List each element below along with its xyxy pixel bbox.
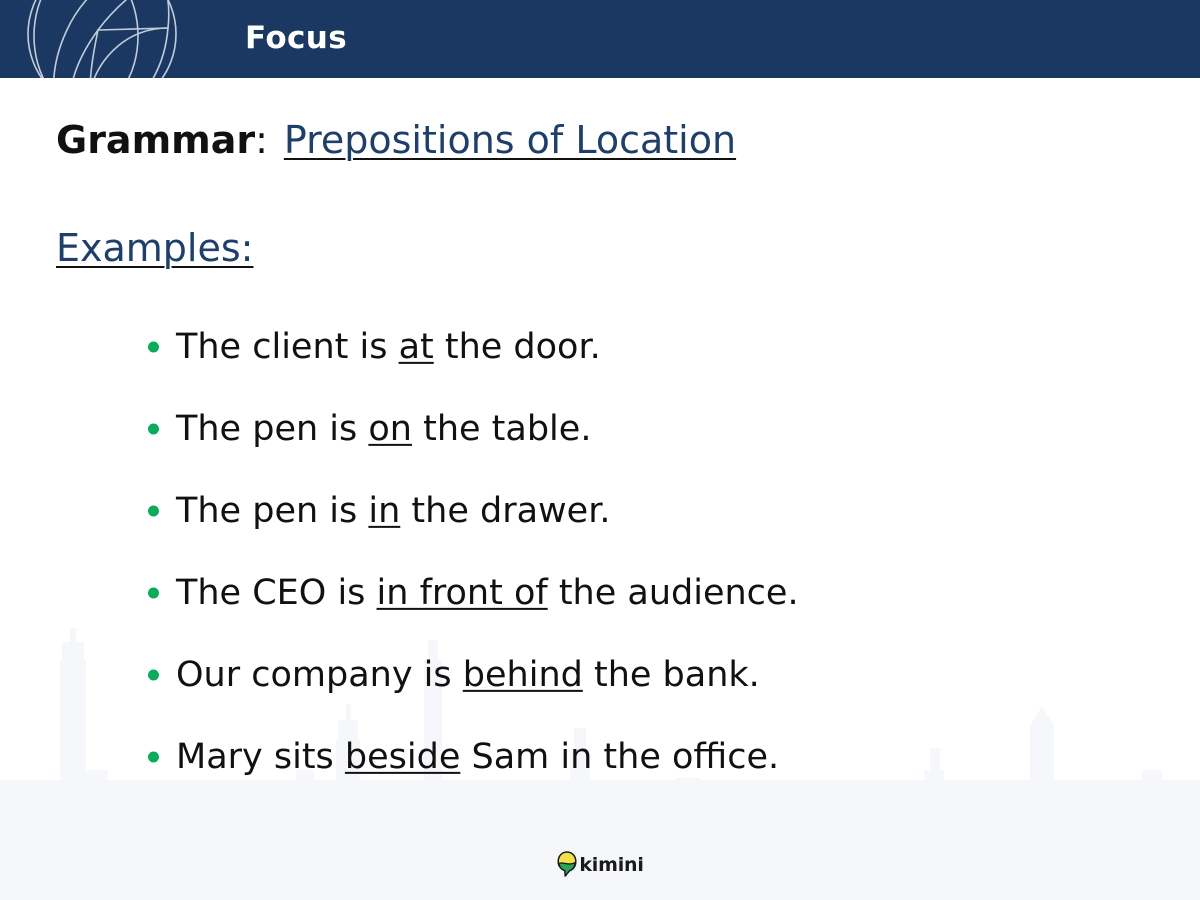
bullet-text: The pen is on the table.	[176, 409, 591, 449]
bullet-text-before: The pen is	[176, 409, 368, 449]
bullet-text-after: the audience.	[548, 573, 799, 613]
header-title: Focus	[245, 0, 347, 78]
bullet-text-before: Mary sits	[176, 737, 345, 777]
bullet-dot-icon	[148, 670, 159, 681]
grammar-label: Grammar	[56, 118, 255, 162]
bullet-text: The pen is in the drawer.	[176, 491, 611, 531]
list-item: The pen is on the table.	[0, 388, 1200, 470]
preposition-highlight: beside	[345, 737, 460, 777]
kimini-egg-logo-icon	[556, 851, 578, 877]
bullet-dot-icon	[148, 342, 159, 353]
examples-bullet-list: The client is at the door. The pen is on…	[0, 306, 1200, 798]
list-item: The client is at the door.	[0, 306, 1200, 388]
preposition-highlight: in	[368, 491, 400, 531]
bullet-text-before: The client is	[176, 327, 399, 367]
bullet-text: The CEO is in front of the audience.	[176, 573, 799, 613]
bullet-text-before: The pen is	[176, 491, 368, 531]
bullet-text-before: Our company is	[176, 655, 463, 695]
slide: Focus Grammar: Prepositions of Location …	[0, 0, 1200, 900]
kimini-g-monogram-icon	[0, 0, 240, 78]
list-item: The pen is in the drawer.	[0, 470, 1200, 552]
slide-content: Grammar: Prepositions of Location Exampl…	[0, 78, 1200, 900]
footer-brand-name: kimini	[579, 856, 643, 875]
bullet-text-after: the table.	[412, 409, 591, 449]
list-item: Mary sits beside Sam in the office.	[0, 716, 1200, 798]
bullet-dot-icon	[148, 752, 159, 763]
preposition-highlight: at	[399, 327, 434, 367]
footer-brand-logo: kimini	[556, 851, 643, 877]
preposition-highlight: on	[368, 409, 412, 449]
grammar-topic-link[interactable]: Prepositions of Location	[284, 118, 736, 162]
preposition-highlight: in front of	[377, 573, 548, 613]
preposition-highlight: behind	[463, 655, 583, 695]
grammar-separator: :	[255, 118, 268, 162]
header-bar: Focus	[0, 0, 1200, 78]
grammar-heading: Grammar: Prepositions of Location	[56, 120, 736, 162]
bullet-text-after: the drawer.	[400, 491, 610, 531]
footer: kimini	[0, 844, 1200, 884]
bullet-dot-icon	[148, 588, 159, 599]
bullet-text: Mary sits beside Sam in the office.	[176, 737, 779, 777]
examples-heading: Examples:	[56, 228, 253, 270]
list-item: The CEO is in front of the audience.	[0, 552, 1200, 634]
bullet-text-after: the bank.	[583, 655, 760, 695]
list-item: Our company is behind the bank.	[0, 634, 1200, 716]
bullet-dot-icon	[148, 424, 159, 435]
bullet-text-after: the door.	[434, 327, 601, 367]
bullet-text: The client is at the door.	[176, 327, 601, 367]
bullet-text-before: The CEO is	[176, 573, 377, 613]
bullet-text: Our company is behind the bank.	[176, 655, 760, 695]
bullet-dot-icon	[148, 506, 159, 517]
bullet-text-after: Sam in the office.	[460, 737, 779, 777]
